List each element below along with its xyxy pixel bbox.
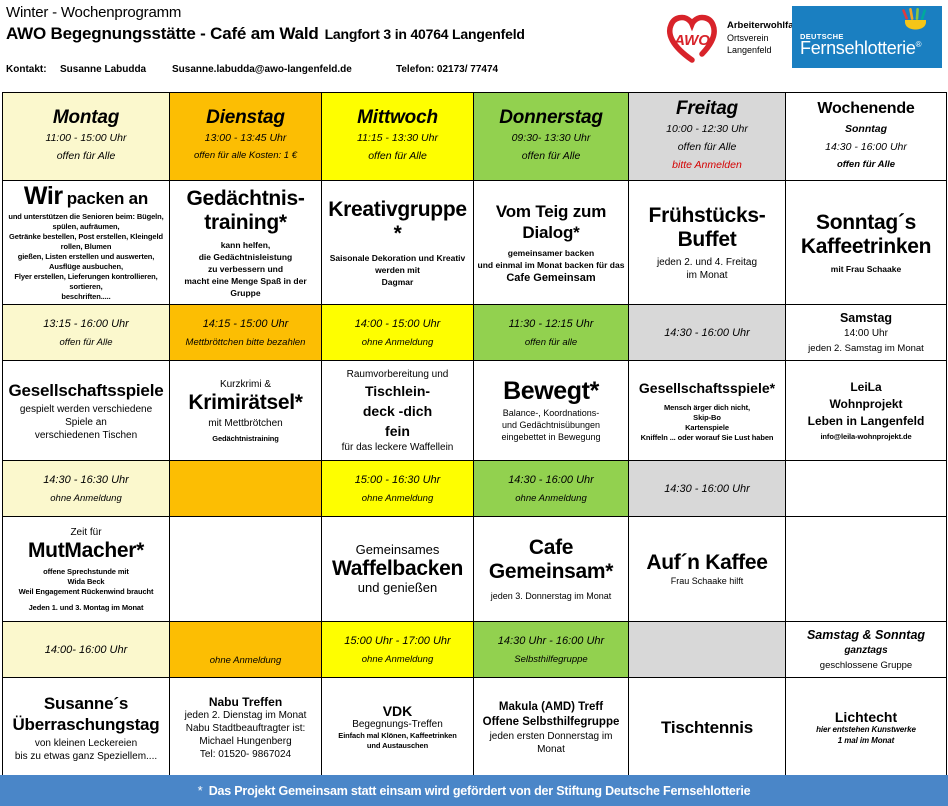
activity-desc: und unterstützen die Senioren beim: Büge… (6, 212, 166, 302)
time-donnerstag-2: 11:30 - 12:15 Uhr offen für alle (474, 305, 629, 361)
svg-text:AWO: AWO (673, 32, 710, 49)
time-montag-2: 13:15 - 16:00 Uhr offen für Alle (3, 305, 170, 361)
activity-desc: jeden 2. Dienstag im Monat Nabu Stadtbea… (173, 709, 318, 761)
activity-desc: hier entstehen Kunstwerke 1 mal im Monat (789, 724, 943, 746)
time-note: ohne Anmeldung (477, 490, 625, 508)
day-name: Montag (6, 107, 166, 129)
activity-schedule-note: Jeden 1. und 3. Montag im Monat (6, 603, 166, 613)
time-montag-3: 14:30 - 16:30 Uhr ohne Anmeldung (3, 461, 170, 517)
activity-footnote: Gedächtnistraining (173, 434, 318, 444)
activity-donnerstag-4[interactable]: Makula (AMD) Treff Offene Selbsthilfegru… (474, 678, 629, 778)
activity-pretitle: Kurzkrimi & (173, 378, 318, 391)
activity-desc: jeden 2. und 4. Freitag im Monat (632, 256, 782, 282)
lottery-name: Fernsehlotterie® (800, 38, 921, 59)
activity-desc: und genießen (325, 581, 470, 595)
weekly-program-poster: Winter - Wochenprogramm AWO Begegnungsst… (0, 0, 948, 806)
activity-pretitle: Raumvorbereitung und (325, 368, 470, 381)
day-note: offen für Alle (632, 138, 782, 156)
activity-freitag-3[interactable]: Auf´n Kaffee Frau Schaake hilft (629, 517, 786, 622)
day-time: 11:15 - 13:30 Uhr (325, 129, 470, 147)
day-name: Donnerstag (477, 107, 625, 129)
day-time: 10:00 - 12:30 Uhr (632, 120, 782, 138)
activity-title: Sonntag´s Kaffeetrinken (789, 211, 943, 259)
time-range: 14:00 - 15:00 Uhr (325, 314, 470, 334)
activity-pretitle: Zeit für (6, 526, 166, 539)
time-note: geschlossene Gruppe (789, 658, 943, 673)
time-mittwoch-3: 15:00 - 16:30 Uhr ohne Anmeldung (322, 461, 474, 517)
activity-title: Gedächtnis- training* (173, 187, 318, 235)
fernsehlotterie-logo: DEUTSCHE Fernsehlotterie® (792, 6, 942, 68)
activity-donnerstag-1[interactable]: Vom Teig zum Dialog* gemeinsamer backen … (474, 181, 629, 305)
day-time: 09:30- 13:30 Uhr (477, 129, 625, 147)
activity-title: Frühstücks- Buffet (632, 204, 782, 252)
activity-desc: Saisonale Dekoration und Kreativ werden … (325, 252, 470, 288)
activity-montag-2[interactable]: Gesellschaftsspiele gespielt werden vers… (3, 361, 170, 461)
time-freitag-4 (629, 622, 786, 678)
activity-wochenende-1[interactable]: Sonntag´s Kaffeetrinken mit Frau Schaake (786, 181, 947, 305)
activity-contact-email: info@leila-wohnprojekt.de (789, 432, 943, 442)
day-header-donnerstag: Donnerstag 09:30- 13:30 Uhr offen für Al… (474, 93, 629, 181)
activity-freitag-1[interactable]: Frühstücks- Buffet jeden 2. und 4. Freit… (629, 181, 786, 305)
table-row-times-3: 14:30 - 16:30 Uhr ohne Anmeldung 15:00 -… (3, 461, 947, 517)
time-range: 14:30 - 16:00 Uhr (632, 323, 782, 343)
activity-desc: Balance-, Koordnations- und Gedächtnisüb… (477, 407, 625, 443)
activity-title-star: * (325, 222, 470, 246)
day-header-mittwoch: Mittwoch 11:15 - 13:30 Uhr offen für All… (322, 93, 474, 181)
activity-desc: von kleinen Leckereien bis zu etwas ganz… (6, 737, 166, 763)
contact-label: Kontakt: (6, 64, 60, 75)
activity-desc: Frau Schaake hilft (632, 575, 782, 587)
activity-desc: gemeinsamer backen und einmal im Monat b… (477, 247, 625, 271)
activity-wochenende-3 (786, 517, 947, 622)
activity-title: Auf´n Kaffee (632, 551, 782, 575)
awo-heart-icon: AWO (664, 12, 720, 64)
time-range: 14:30 Uhr - 16:00 Uhr (477, 631, 625, 651)
activity-desc: gespielt werden verschiedene Spiele an v… (6, 403, 166, 442)
time-range: 15:00 Uhr - 17:00 Uhr (325, 631, 470, 651)
time-note: jeden 2. Samstag im Monat (789, 341, 943, 356)
time-note: ohne Anmeldung (325, 334, 470, 352)
activity-title: Lichtecht (789, 710, 943, 724)
activity-desc: für das leckere Waffellein (325, 441, 470, 454)
activity-mittwoch-4[interactable]: VDK Begegnungs-Treffen Einfach mal Klöne… (322, 678, 474, 778)
day-header-montag: Montag 11:00 - 15:00 Uhr offen für Alle (3, 93, 170, 181)
activity-desc: Mensch ärger dich nicht, Skip-Bo Kartens… (632, 403, 782, 443)
time-range: 14:30 - 16:00 Uhr (477, 470, 625, 490)
activity-pretitle: Gemeinsames (325, 543, 470, 557)
day-name: Mittwoch (325, 107, 470, 129)
time-note: ohne Anmeldung (6, 490, 166, 508)
time-freitag-3: 14:30 - 16:00 Uhr (629, 461, 786, 517)
day-name: Dienstag (173, 107, 318, 129)
footnote-star-icon: * (198, 783, 203, 798)
activity-desc: mit Frau Schaake (789, 263, 943, 275)
activity-title: Makula (AMD) Treff Offene Selbsthilfegru… (477, 700, 625, 730)
activity-desc: kann helfen, die Gedächtnisleistung zu v… (173, 239, 318, 299)
activity-title: Wirpacken an (6, 183, 166, 210)
time-wochenende-4: Samstag & Sonntag ganztags geschlossene … (786, 622, 947, 678)
day-header-freitag: Freitag 10:00 - 12:30 Uhr offen für Alle… (629, 93, 786, 181)
time-note: ohne Anmeldung (325, 490, 470, 508)
time-freitag-2: 14:30 - 16:00 Uhr (629, 305, 786, 361)
activity-title: Nabu Treffen (173, 695, 318, 709)
activity-highlight: Cafe Gemeinsam (477, 271, 625, 285)
time-donnerstag-3: 14:30 - 16:00 Uhr ohne Anmeldung (474, 461, 629, 517)
table-row-activities-2: Gesellschaftsspiele gespielt werden vers… (3, 361, 947, 461)
activity-title: Bewegt* (477, 378, 625, 405)
activity-freitag-4[interactable]: Tischtennis (629, 678, 786, 778)
activity-dienstag-3 (170, 517, 322, 622)
activity-title: LeiLa Wohnprojekt Leben in Langenfeld (789, 379, 943, 430)
time-range: 15:00 - 16:30 Uhr (325, 470, 470, 490)
activity-title: Tischtennis (632, 717, 782, 738)
time-mittwoch-4: 15:00 Uhr - 17:00 Uhr ohne Anmeldung (322, 622, 474, 678)
contact-email: Susanne.labudda@awo-langenfeld.de (172, 64, 396, 75)
time-range: 11:30 - 12:15 Uhr (477, 314, 625, 334)
time-note: ohne Anmeldung (325, 651, 470, 669)
day-time: 11:00 - 15:00 Uhr (6, 129, 166, 147)
activity-mittwoch-3[interactable]: Gemeinsames Waffelbacken und genießen (322, 517, 474, 622)
day-note-registration: bitte Anmelden (632, 156, 782, 174)
time-range: 13:15 - 16:00 Uhr (6, 314, 166, 334)
activity-wochenende-2[interactable]: LeiLa Wohnprojekt Leben in Langenfeld in… (786, 361, 947, 461)
time-note: ohne Anmeldung (173, 652, 318, 670)
day-note: offen für Alle (789, 156, 943, 174)
time-montag-4: 14:00- 16:00 Uhr (3, 622, 170, 678)
venue-address: Langfort 3 in 40764 Langenfeld (319, 26, 525, 42)
time-note: Selbsthilfegruppe (477, 651, 625, 669)
time-range: 14:15 - 15:00 Uhr (173, 314, 318, 334)
table-row-day-headers: Montag 11:00 - 15:00 Uhr offen für Alle … (3, 93, 947, 181)
day-name: Wochenende (789, 98, 943, 120)
registered-mark-icon: ® (916, 40, 922, 49)
day-header-wochenende: Wochenende Sonntag 14:30 - 16:00 Uhr off… (786, 93, 947, 181)
activity-montag-3[interactable]: Zeit für MutMacher* offene Sprechstunde … (3, 517, 170, 622)
time-wochenende-2: Samstag 14:00 Uhr jeden 2. Samstag im Mo… (786, 305, 947, 361)
activity-desc: mit Mettbrötchen (173, 417, 318, 430)
contact-name: Susanne Labudda (60, 64, 172, 75)
day-header-dienstag: Dienstag 13:00 - 13:45 Uhr offen für all… (170, 93, 322, 181)
day-note: offen für Alle (6, 147, 166, 165)
contact-phone: Telefon: 02173/ 77474 (396, 64, 498, 75)
activity-desc: Begegnungs-Treffen (325, 718, 470, 731)
table-row-activities-4: Susanne´s Überraschungstag von kleinen L… (3, 678, 947, 778)
time-note: offen für alle (477, 334, 625, 352)
day-note: offen für alle Kosten: 1 € (173, 147, 318, 165)
activity-title: Cafe Gemeinsam* (477, 536, 625, 584)
table-row-times-4: 14:00- 16:00 Uhr ohne Anmeldung 15:00 Uh… (3, 622, 947, 678)
activity-mittwoch-2[interactable]: Raumvorbereitung und Tischlein- deck -di… (322, 361, 474, 461)
day-time: 13:00 - 13:45 Uhr (173, 129, 318, 147)
activity-schedule-note: jeden 3. Donnerstag im Monat (477, 590, 625, 602)
time-range: 14:30 - 16:00 Uhr (632, 479, 782, 499)
awo-logo: AWO Arbeiterwohlfahrt Ortsverein Langenf… (664, 8, 792, 68)
activity-dienstag-1[interactable]: Gedächtnis- training* kann helfen, die G… (170, 181, 322, 305)
activity-wochenende-4[interactable]: Lichtecht hier entstehen Kunstwerke 1 ma… (786, 678, 947, 778)
activity-title: Gesellschaftsspiele* (632, 379, 782, 397)
time-note: Mettbröttchen bitte bezahlen (173, 334, 318, 352)
activity-desc: offene Sprechstunde mit Wida Beck Weil E… (6, 567, 166, 597)
activity-montag-4[interactable]: Susanne´s Überraschungstag von kleinen L… (3, 678, 170, 778)
table-row-times-2: 13:15 - 16:00 Uhr offen für Alle 14:15 -… (3, 305, 947, 361)
time-range: 14:00- 16:00 Uhr (6, 640, 166, 660)
time-mittwoch-2: 14:00 - 15:00 Uhr ohne Anmeldung (322, 305, 474, 361)
table-row-activities-3: Zeit für MutMacher* offene Sprechstunde … (3, 517, 947, 622)
lottery-hand-icon (896, 8, 936, 36)
weekend-day: Samstag (789, 310, 943, 326)
activity-title: Susanne´s Überraschungstag (6, 693, 166, 735)
day-name: Freitag (632, 98, 782, 120)
weekend-day: Samstag & Sonntag (789, 627, 943, 643)
weekly-schedule-table: Montag 11:00 - 15:00 Uhr offen für Alle … (2, 92, 947, 778)
time-donnerstag-4: 14:30 Uhr - 16:00 Uhr Selbsthilfegruppe (474, 622, 629, 678)
footer-text: Das Projekt Gemeinsam statt einsam wird … (209, 784, 751, 798)
table-row-activities-1: Wirpacken an und unterstützen die Senior… (3, 181, 947, 305)
activity-montag-1[interactable]: Wirpacken an und unterstützen die Senior… (3, 181, 170, 305)
activity-mittwoch-1[interactable]: Kreativgruppe * Saisonale Dekoration und… (322, 181, 474, 305)
activity-schedule-note: jeden ersten Donnerstag im Monat (477, 730, 625, 756)
time-range: 14:00 Uhr (789, 326, 943, 341)
activity-title: VDK (325, 704, 470, 718)
activity-dienstag-2[interactable]: Kurzkrimi & Krimirätsel* mit Mettbrötche… (170, 361, 322, 461)
day-note: offen für Alle (325, 147, 470, 165)
time-note: offen für Alle (6, 334, 166, 352)
activity-donnerstag-2[interactable]: Bewegt* Balance-, Koordnations- und Gedä… (474, 361, 629, 461)
contact-line: Kontakt: Susanne Labudda Susanne.labudda… (6, 64, 646, 75)
activity-title: MutMacher* (6, 539, 166, 563)
time-wochenende-3 (786, 461, 947, 517)
activity-title: Krimirätsel* (173, 391, 318, 415)
activity-title: Gesellschaftsspiele (6, 380, 166, 401)
activity-donnerstag-3[interactable]: Cafe Gemeinsam* jeden 3. Donnerstag im M… (474, 517, 629, 622)
activity-title: Vom Teig zum Dialog* (477, 201, 625, 243)
footer-banner: * Das Projekt Gemeinsam statt einsam wir… (0, 775, 948, 806)
time-dienstag-2: 14:15 - 15:00 Uhr Mettbröttchen bitte be… (170, 305, 322, 361)
activity-title: Kreativgruppe (325, 198, 470, 222)
venue-name: AWO Begegnungsstätte - Café am Wald (6, 24, 319, 43)
activity-footnote: Einfach mal Klönen, Kaffeetrinken und Au… (325, 731, 470, 751)
activity-dienstag-4[interactable]: Nabu Treffen jeden 2. Dienstag im Monat … (170, 678, 322, 778)
day-subday: Sonntag (789, 120, 943, 138)
page-header: Winter - Wochenprogramm AWO Begegnungsst… (0, 0, 948, 92)
activity-freitag-2[interactable]: Gesellschaftsspiele* Mensch ärger dich n… (629, 361, 786, 461)
activity-title: Waffelbacken (325, 557, 470, 581)
time-range: ganztags (789, 643, 943, 658)
time-range: 14:30 - 16:30 Uhr (6, 470, 166, 490)
time-dienstag-4: ohne Anmeldung (170, 622, 322, 678)
activity-title: Tischlein- deck -dich fein (325, 381, 470, 441)
time-dienstag-3 (170, 461, 322, 517)
day-note: offen für Alle (477, 147, 625, 165)
day-time: 14:30 - 16:00 Uhr (789, 138, 943, 156)
